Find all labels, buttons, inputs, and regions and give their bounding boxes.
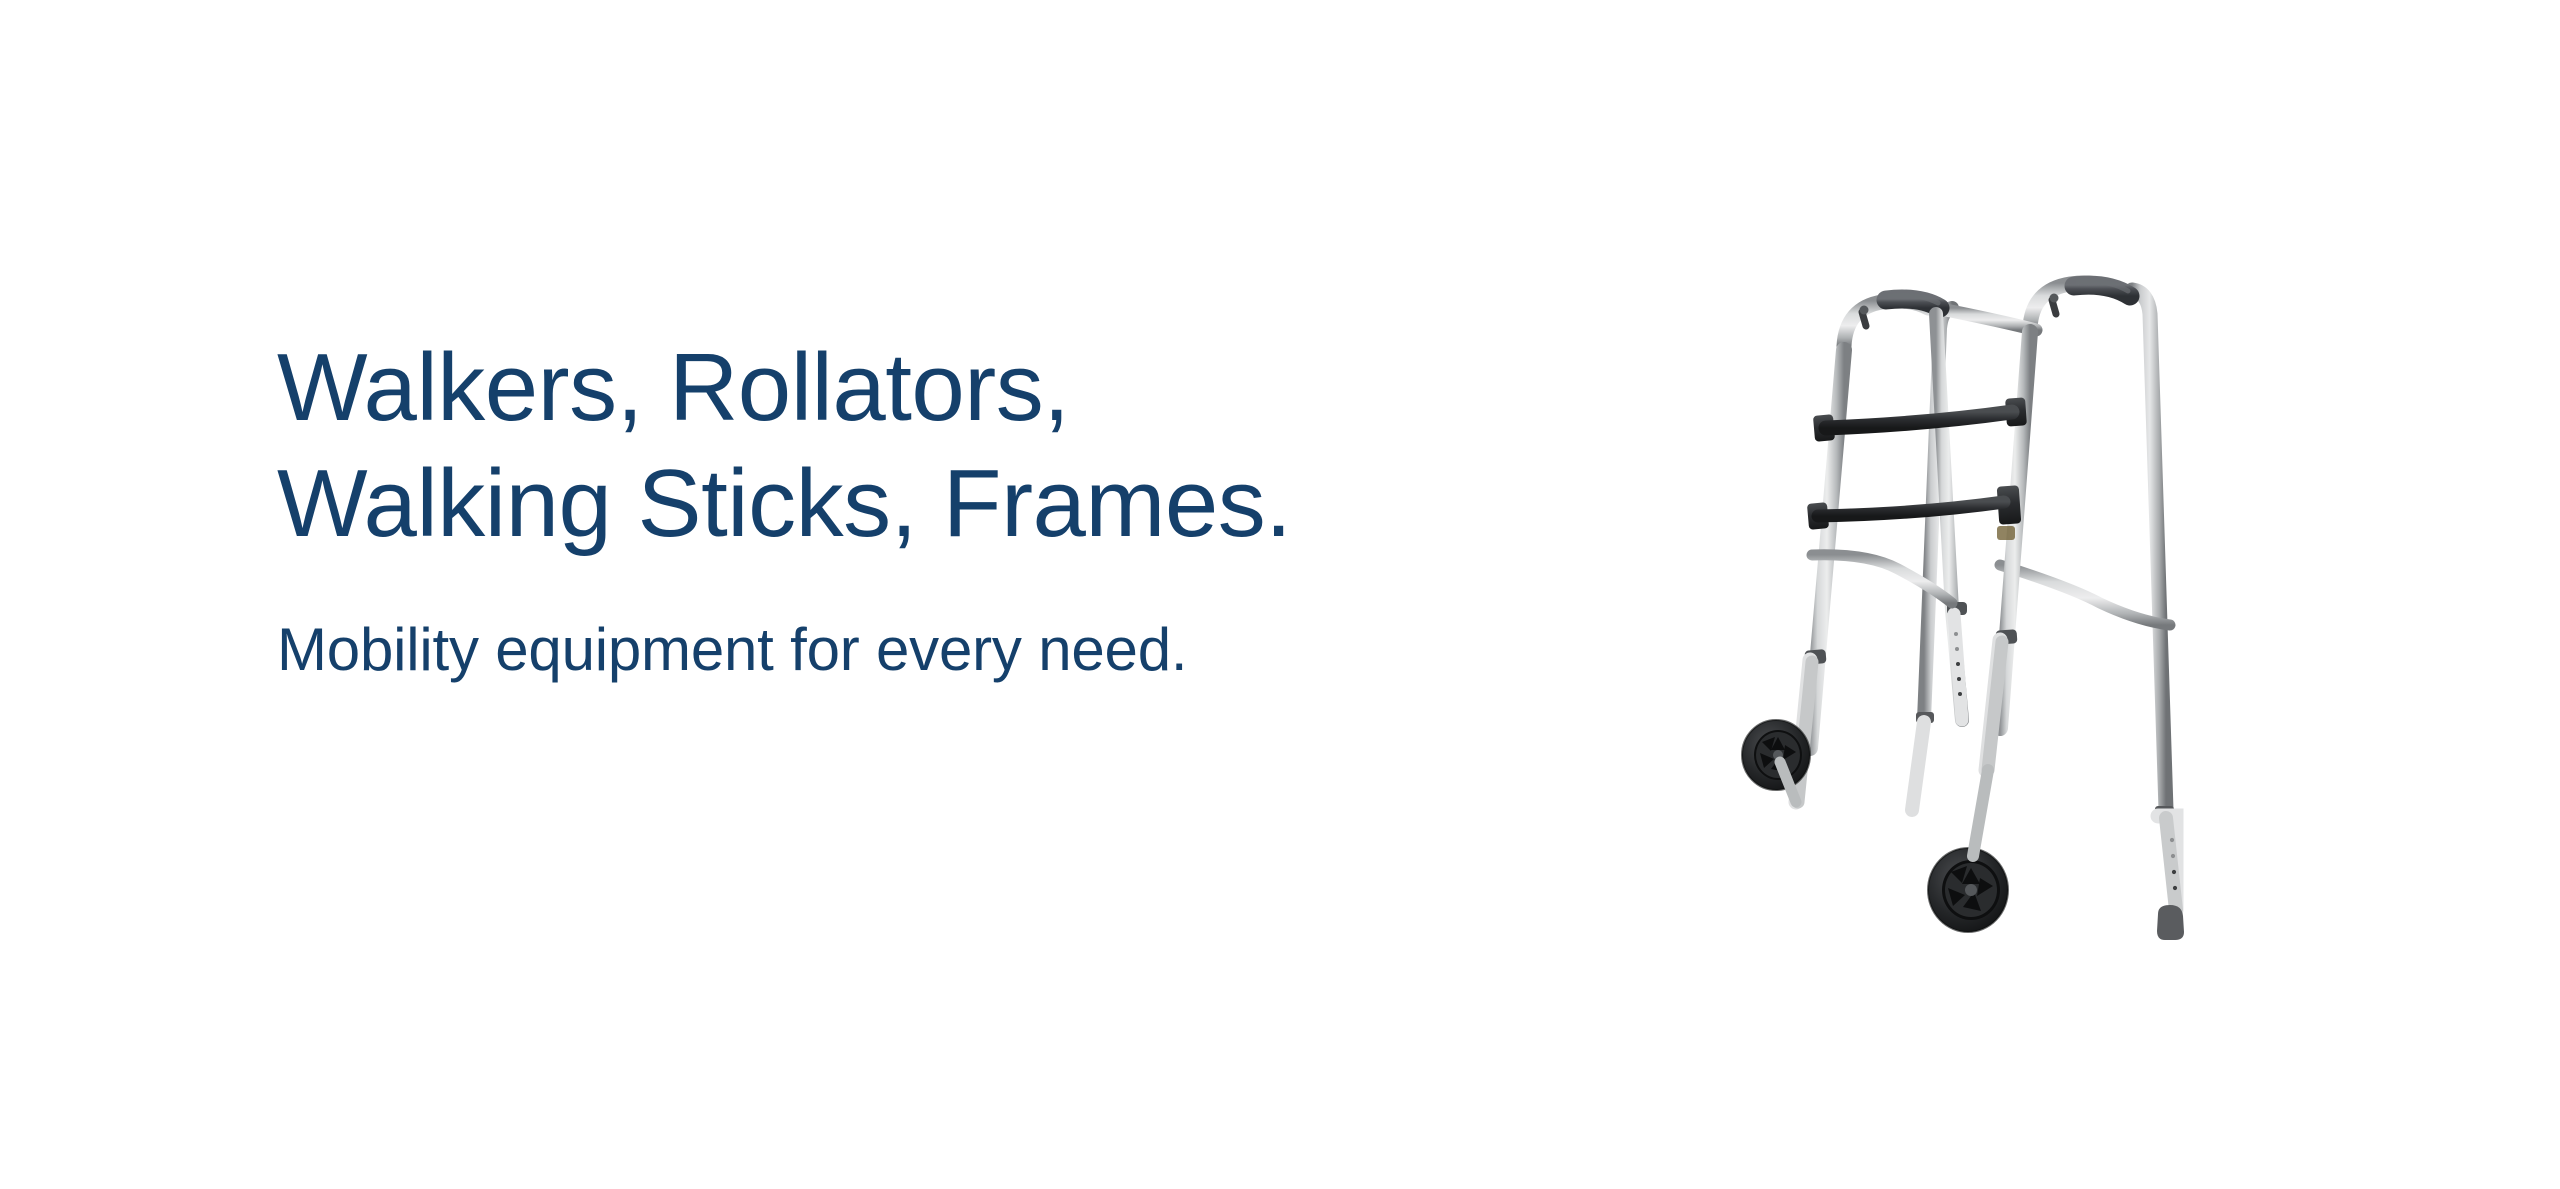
walker-front-right-upright <box>1986 332 2030 770</box>
hero-copy-block: Walkers, Rollators, Walking Sticks, Fram… <box>277 330 1457 686</box>
product-image-walker <box>1700 250 2260 950</box>
walker-lower-crossbar <box>1818 502 2004 516</box>
walker-top-crossbar <box>1936 308 2036 330</box>
walker-wheel-center <box>1928 848 2008 932</box>
hero-banner: Walkers, Rollators, Walking Sticks, Fram… <box>0 0 2560 1189</box>
walker-center-diagonal <box>1936 314 1967 720</box>
hero-subheading: Mobility equipment for every need. <box>277 614 1457 686</box>
heading-line-2: Walking Sticks, Frames. <box>277 446 1457 562</box>
heading-line-1: Walkers, Rollators, <box>277 330 1457 446</box>
walker-left-grip <box>1886 295 1940 308</box>
walker-wheel-left <box>1742 720 1810 790</box>
walker-illustration <box>1700 250 2260 950</box>
walker-upper-crossbar <box>1826 412 2012 428</box>
walker-wheel-center-stem <box>1973 770 1988 856</box>
walker-right-grip <box>2074 281 2130 296</box>
page-title: Walkers, Rollators, Walking Sticks, Fram… <box>277 330 1457 562</box>
walker-rear-brace <box>2000 565 2170 625</box>
